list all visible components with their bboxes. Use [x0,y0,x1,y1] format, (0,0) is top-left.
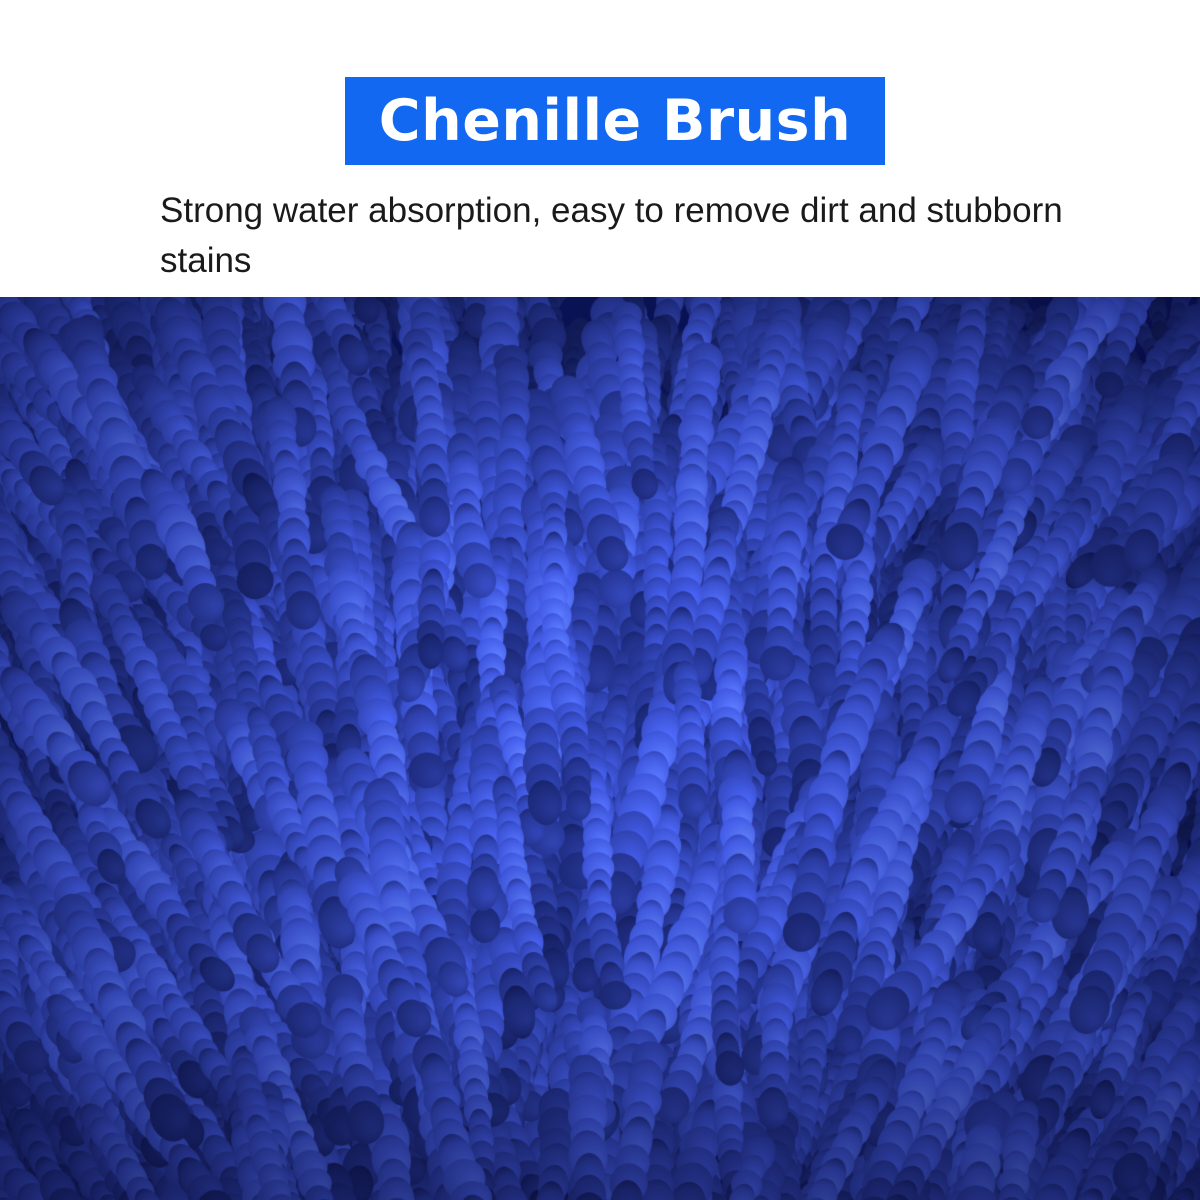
page-title: Chenille Brush [379,93,851,150]
header-section: Chenille Brush Strong water absorption, … [0,0,1200,297]
chenille-microfiber-closeup-image [0,297,1200,1200]
subtitle-text: Strong water absorption, easy to remove … [160,186,1090,285]
title-banner: Chenille Brush [345,77,885,165]
fabric-texture-canvas [0,297,1200,1200]
product-image-card: Chenille Brush Strong water absorption, … [0,0,1200,1200]
